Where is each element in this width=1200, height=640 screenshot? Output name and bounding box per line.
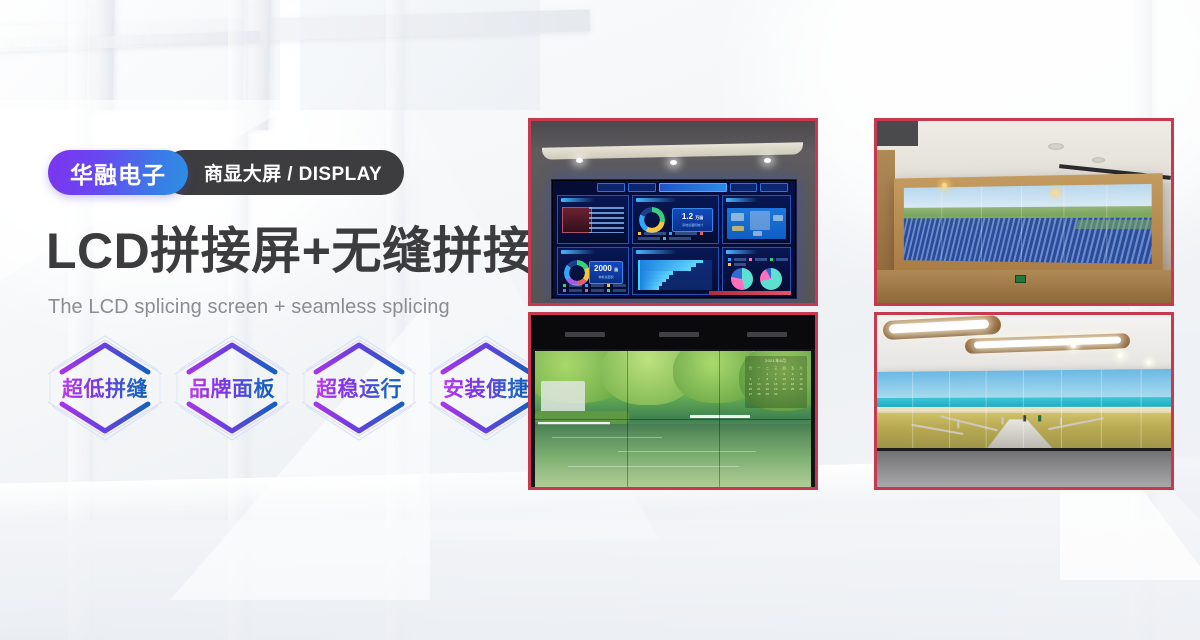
photo-lake-scenery-video-wall[interactable]: 2021年6月 日 一 二 三 四 五 六 12345 67891 [528,312,818,490]
stat-unit: 亩 [614,267,618,272]
stat-value: 2000 [594,264,612,273]
calendar-days: 12345 6789101112 13141516171819 20212223… [747,372,805,396]
banner-copy: 华融电子 商显大屏 / DISPLAY LCD拼接屏+无缝拼接 The LCD … [0,0,520,640]
photo-dashboard-video-wall[interactable]: 1.2 万亩 基地总面积统计 [528,118,818,306]
calendar-weekday: 二 [764,366,771,370]
calendar-weekday: 五 [789,366,796,370]
calendar-overlay: 2021年6月 日 一 二 三 四 五 六 12345 67891 [745,356,807,408]
brand-badge: 华融电子 商显大屏 / DISPLAY [48,150,404,195]
photo-beach-boardwalk-video-wall[interactable] [874,312,1174,490]
calendar-title: 2021年6月 [747,358,805,364]
calendar-weekday: 四 [780,366,787,370]
feature-item: 超低拼缝 [46,332,164,444]
calendar-weekday: 一 [755,366,762,370]
page-title: LCD拼接屏+无缝拼接 [46,226,533,276]
calendar-weekday: 三 [772,366,779,370]
feature-label: 品牌面板 [189,373,275,403]
calendar-grid: 日 一 二 三 四 五 六 [747,366,805,370]
feature-list: 超低拼缝 品牌面板 [46,332,545,444]
photo-solar-farm-video-wall[interactable] [874,118,1174,306]
feature-label: 安装便捷 [443,373,529,403]
solar-farm-screen [903,183,1151,264]
stat-label: 基地总面积统计 [682,223,703,227]
calendar-weekday: 六 [797,366,804,370]
wood-wall-frame [894,173,1163,277]
brand-name: 华融电子 [48,150,188,195]
stat-value: 1.2 [682,212,693,221]
product-photo-grid: 1.2 万亩 基地总面积统计 [528,118,1174,490]
stat-label: 种植总面积 [599,275,614,279]
beach-boardwalk-screen [877,369,1171,451]
product-category-label: 商显大屏 / DISPLAY [162,150,404,195]
feature-item: 超稳运行 [300,332,418,444]
feature-item: 品牌面板 [173,332,291,444]
feature-label: 超稳运行 [316,373,402,403]
feature-label: 超低拼缝 [62,373,148,403]
lake-screen: 2021年6月 日 一 二 三 四 五 六 12345 67891 [535,351,810,487]
dashboard-screen: 1.2 万亩 基地总面积统计 [551,179,797,299]
stat-unit: 万亩 [695,215,703,220]
page-subtitle: The LCD splicing screen + seamless splic… [48,296,450,319]
calendar-weekday: 日 [747,366,754,370]
product-banner: 华融电子 商显大屏 / DISPLAY LCD拼接屏+无缝拼接 The LCD … [0,0,1200,640]
